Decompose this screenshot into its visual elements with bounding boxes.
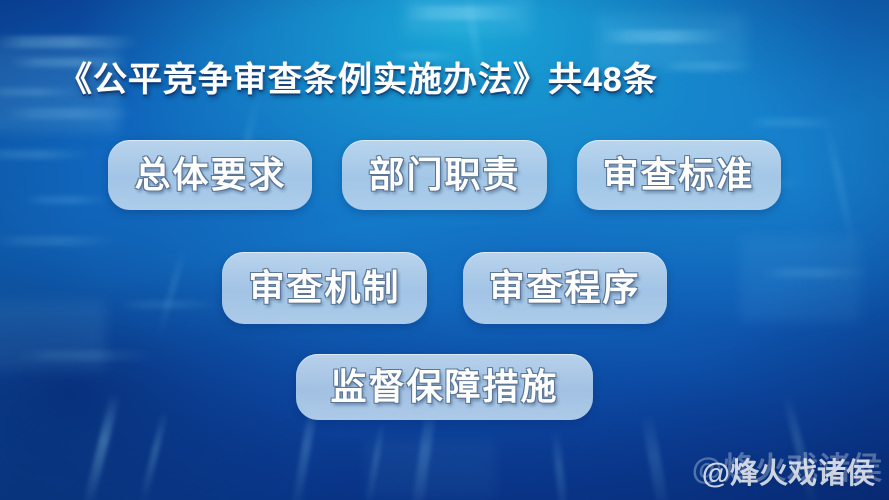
topic-pill-label: 监督保障措施 <box>330 369 558 405</box>
topic-pill-label: 审查程序 <box>489 270 641 306</box>
topic-pill-label: 部门职责 <box>368 157 520 193</box>
topic-pill-label: 审查机制 <box>248 270 400 306</box>
topic-pill-label: 总体要求 <box>134 157 286 193</box>
watermark: @烽火戏诸侯 <box>702 450 875 492</box>
infographic-slide: 《公平竞争审查条例实施办法》共48条 总体要求 部门职责 审查标准 审查机制 审… <box>0 0 889 500</box>
topic-pill-supervision-measures[interactable]: 监督保障措施 <box>296 354 592 420</box>
page-title: 《公平竞争审查条例实施办法》共48条 <box>58 52 658 101</box>
topic-pill-review-standards[interactable]: 审查标准 <box>577 140 781 210</box>
topic-pill-review-mechanism[interactable]: 审查机制 <box>222 252 426 324</box>
topic-row-1: 总体要求 部门职责 审查标准 <box>0 140 889 210</box>
topic-pill-label: 审查标准 <box>603 157 755 193</box>
topic-pill-department-duties[interactable]: 部门职责 <box>342 140 546 210</box>
topic-pill-group: 总体要求 部门职责 审查标准 审查机制 审查程序 监督保障措施 <box>0 140 889 420</box>
topic-row-3: 监督保障措施 <box>0 354 889 420</box>
topic-pill-review-procedure[interactable]: 审查程序 <box>463 252 667 324</box>
topic-row-2: 审查机制 审查程序 <box>0 252 889 324</box>
topic-pill-overall-requirements[interactable]: 总体要求 <box>108 140 312 210</box>
